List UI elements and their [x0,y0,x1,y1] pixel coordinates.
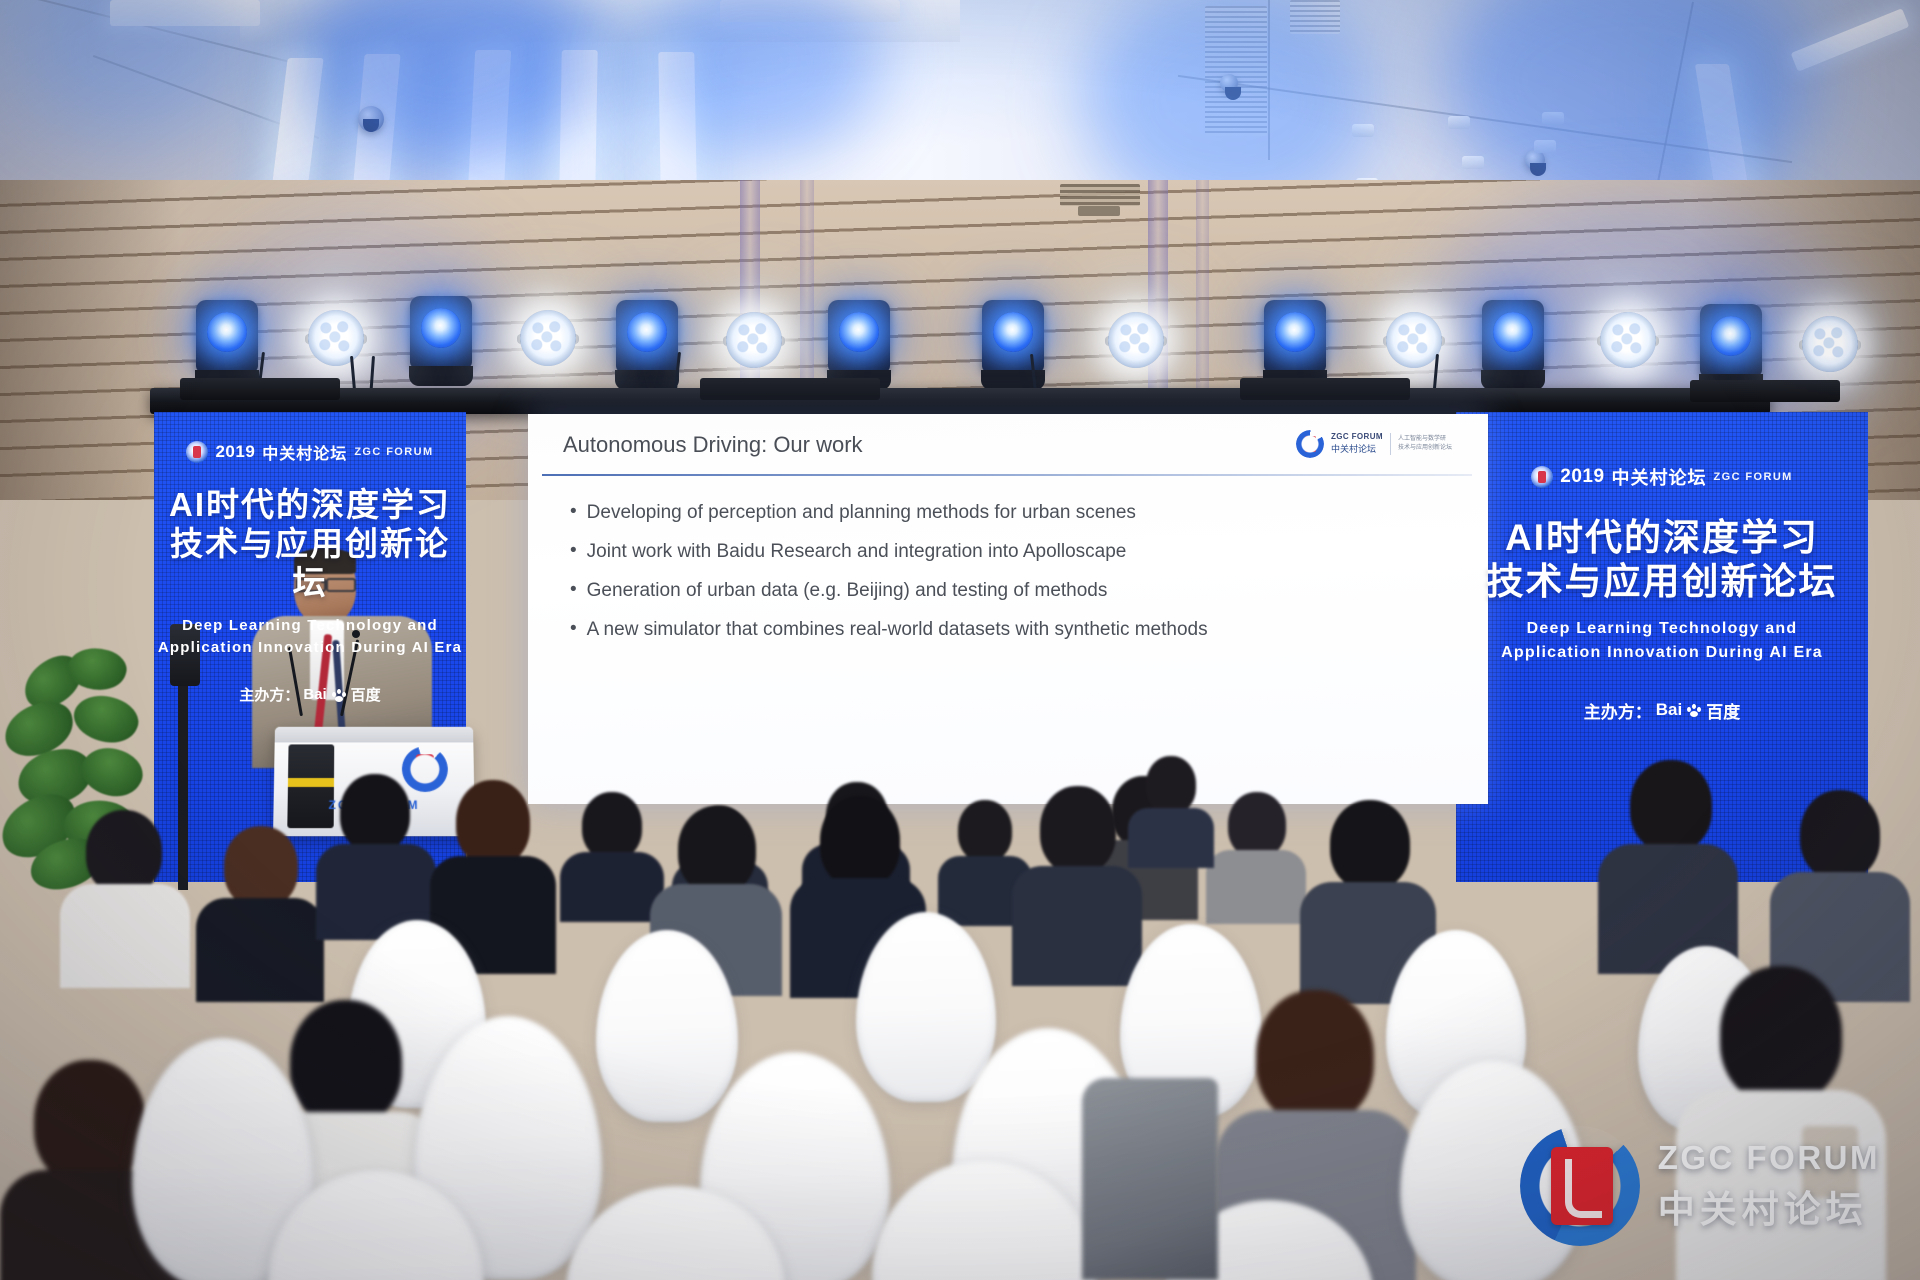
slide-tagline-1: 人工智能与数学研 [1398,435,1452,444]
bullet-text: Joint work with Baidu Research and integ… [587,541,1127,563]
baidu-paw-icon [1686,703,1702,717]
ceiling-downlight [1352,124,1374,137]
banner-headline-1: AI时代的深度学习 [1456,516,1868,560]
presentation-slide: Autonomous Driving: Our work ZGC FORUM 中… [528,414,1488,804]
banner-headline-2: 技术与应用创新论坛 [154,525,466,603]
banner-forum-en: ZGC FORUM [1714,471,1793,483]
bullet-marker: • [570,619,577,638]
bullet-text: A new simulator that combines real-world… [587,619,1208,641]
bullet-marker: • [570,502,577,521]
banner-forum-cn: 中关村论坛 [262,440,347,464]
banner-host-cn: 百度 [1706,698,1740,723]
banner-year: 2019 [215,442,255,462]
ceiling-dome-camera [1525,150,1545,170]
banner-headline-2: 技术与应用创新论坛 [1456,560,1868,604]
wall-vent [1060,184,1140,206]
zgc-forum-watermark: ZGC FORUM 中关村论坛 [1520,1126,1880,1246]
ceiling-light-panel [1791,8,1910,71]
banner-forum-cn: 中关村论坛 [1612,464,1707,490]
banner-year: 2019 [1560,466,1604,488]
watermark-cn: 中关村论坛 [1658,1179,1880,1233]
banner-subtitle-1: Deep Learning Technology and [1456,617,1868,640]
zgc-logo-icon [1531,466,1553,488]
ceiling-downlight [1534,140,1556,153]
baidu-paw-icon [331,688,347,702]
banner-host-cn: 百度 [351,684,381,705]
ceiling-downlight [1542,112,1564,125]
banner-forum-en: ZGC FORUM [354,446,433,458]
ceiling-dome-camera [358,106,384,132]
zgc-logo-icon [186,441,208,463]
slide-tagline-2: 技术与应用创新论坛 [1398,444,1452,453]
zgc-seal-icon [1551,1147,1613,1225]
banner-subtitle-2: Application Innovation During AI Era [154,637,466,659]
list-item: • Joint work with Baidu Research and int… [570,541,1450,563]
bullet-marker: • [570,580,577,599]
banner-subtitle-1: Deep Learning Technology and [154,615,466,637]
banner-host-label: 主办方： [239,684,299,705]
list-item: • A new simulator that combines real-wor… [570,619,1450,641]
ceiling-downlight [1448,116,1470,129]
ceiling-light-panel [720,0,900,22]
banner-host-en: Bai [1656,700,1682,720]
slide-logo-en: ZGC FORUM [1331,432,1383,441]
banner-host-label: 主办方： [1584,698,1652,723]
conference-photo: 2019 中关村论坛 ZGC FORUM AI时代的深度学习 技术与应用创新论坛… [0,0,1920,1280]
ceiling-downlight [1462,156,1484,169]
list-item: • Developing of perception and planning … [570,502,1450,524]
list-item: • Generation of urban data (e.g. Beijing… [570,580,1450,602]
watermark-en: ZGC FORUM [1658,1139,1880,1177]
ceiling-dome-camera [1220,74,1238,92]
slide-logo-cn: 中关村论坛 [1331,444,1376,454]
banner-subtitle-2: Application Innovation During AI Era [1456,641,1868,664]
slide-bullet-list: • Developing of perception and planning … [570,502,1450,658]
banner-headline-1: AI时代的深度学习 [154,486,466,525]
slide-title: Autonomous Driving: Our work [563,432,863,458]
bullet-text: Generation of urban data (e.g. Beijing) … [587,580,1108,602]
hvac-grille [1205,6,1267,136]
draped-jacket [1082,1078,1218,1280]
ceiling-light-panel [110,0,260,26]
slide-corner-logo: ZGC FORUM 中关村论坛 人工智能与数学研 技术与应用创新论坛 [1296,430,1452,458]
hvac-grille [1290,0,1340,34]
ceiling-light-panel [1695,64,1749,192]
wall-exit-sign [1078,206,1120,216]
bullet-marker: • [570,541,577,560]
bullet-text: Developing of perception and planning me… [587,502,1136,524]
banner-host-en: Bai [303,686,326,703]
